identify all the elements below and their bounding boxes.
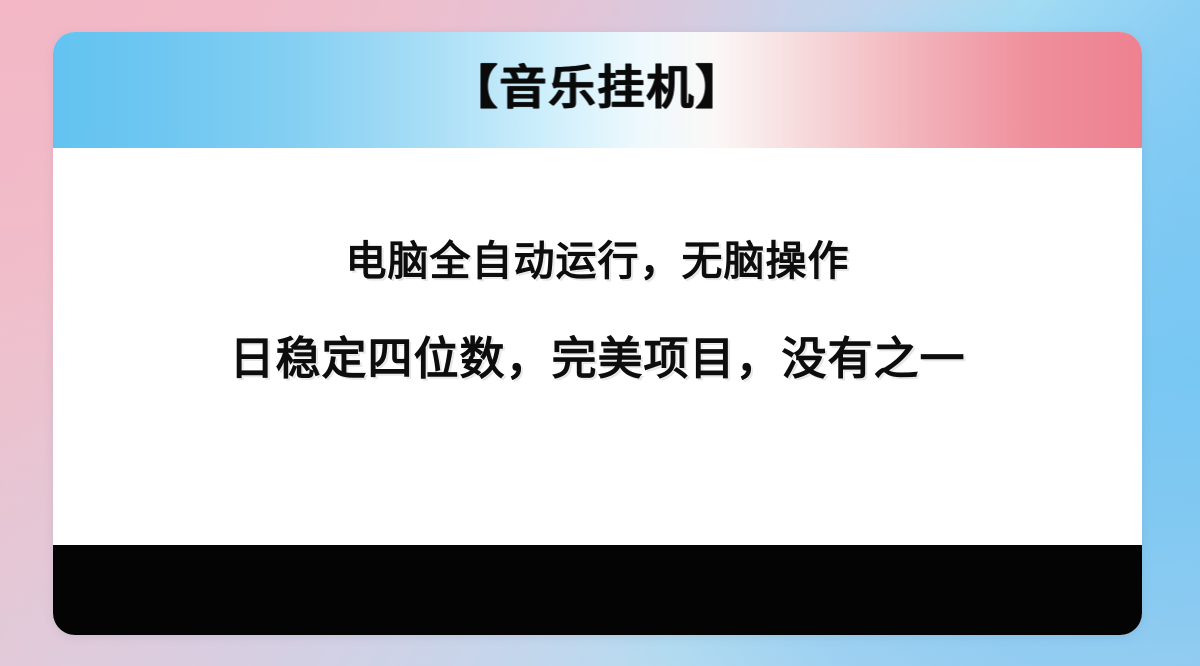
headline-line-2: 日稳定四位数，完美项目，没有之一 xyxy=(229,335,965,382)
promo-card: 【音乐挂机】 电脑全自动运行，无脑操作 日稳定四位数，完美项目，没有之一 xyxy=(53,32,1142,635)
page-title: 【音乐挂机】 xyxy=(451,65,745,112)
poster-root: 【音乐挂机】 电脑全自动运行，无脑操作 日稳定四位数，完美项目，没有之一 xyxy=(0,0,1200,666)
card-header-banner: 【音乐挂机】 xyxy=(53,32,1142,148)
headline-line-1: 电脑全自动运行，无脑操作 xyxy=(346,240,850,283)
card-body: 电脑全自动运行，无脑操作 日稳定四位数，完美项目，没有之一 xyxy=(53,148,1142,545)
card-footer-bar xyxy=(53,545,1142,635)
